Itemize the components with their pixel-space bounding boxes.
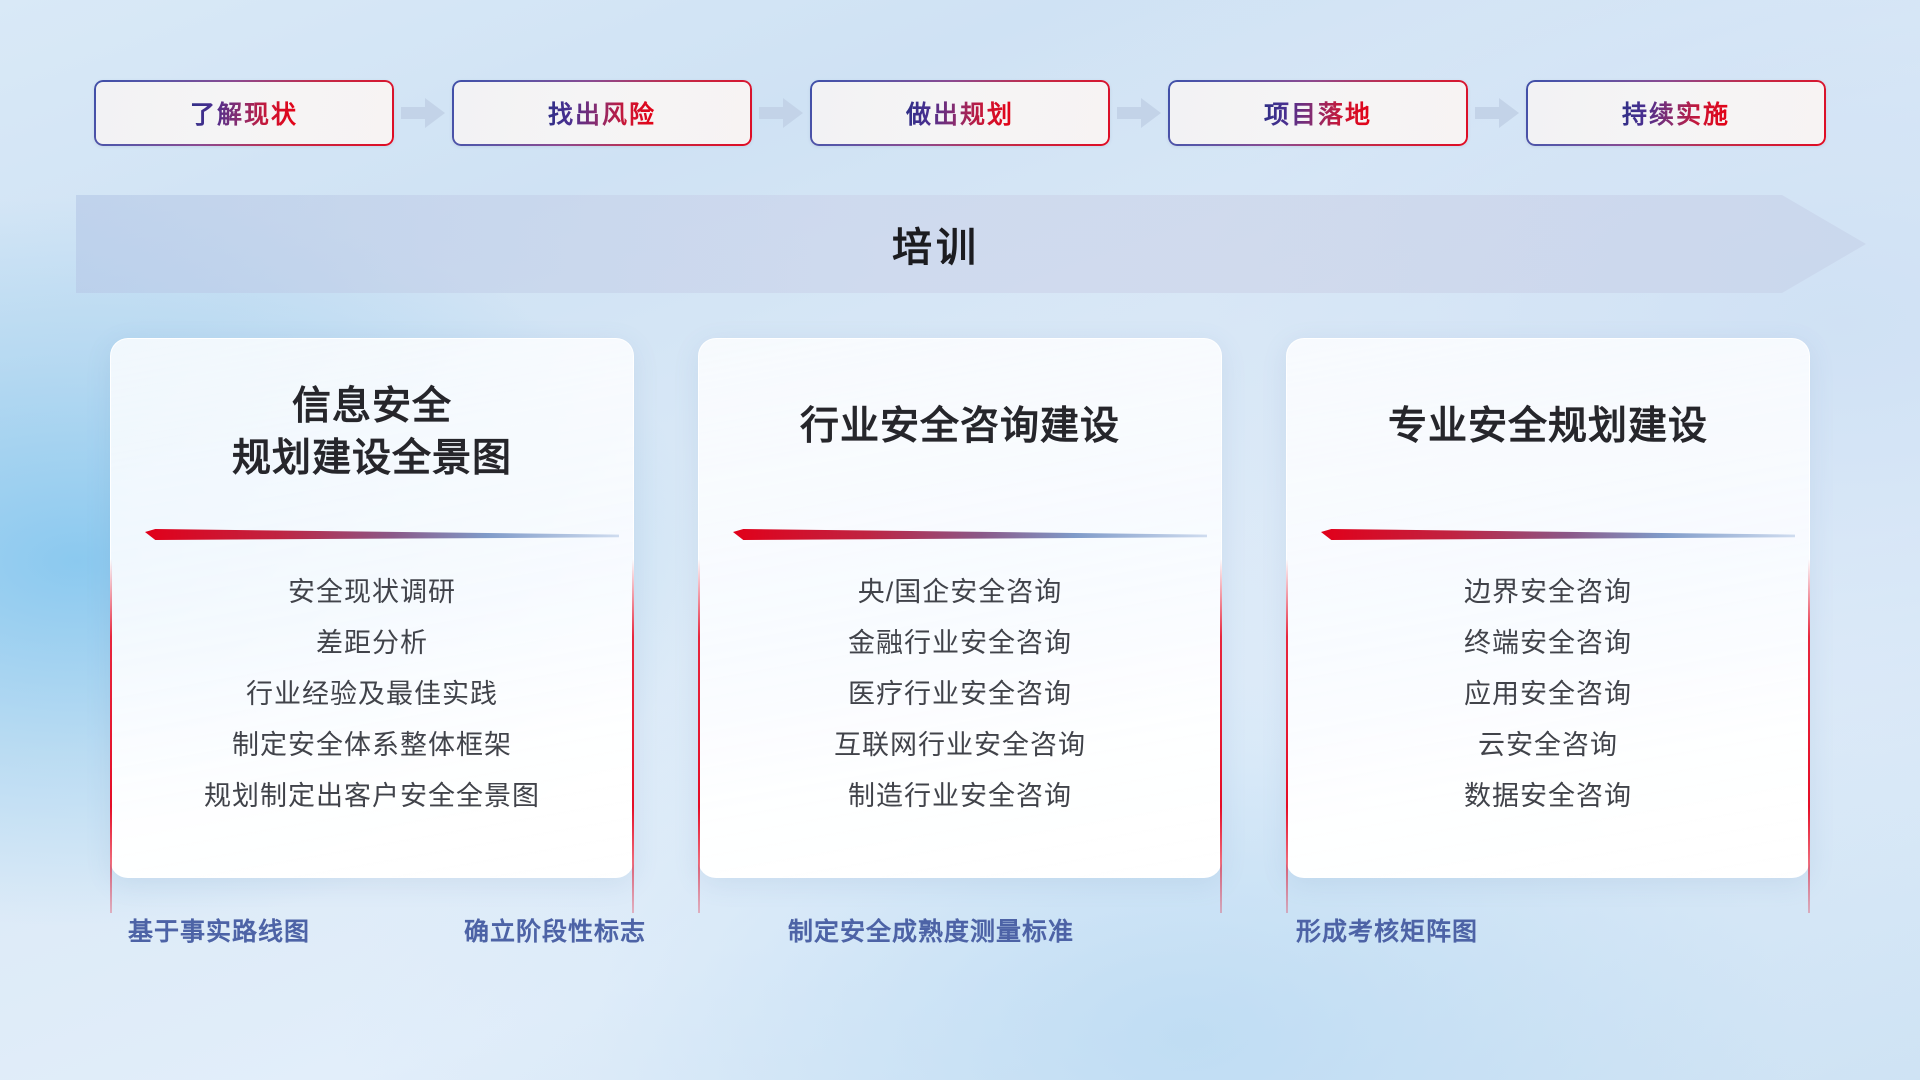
list-item: 云安全咨询 — [1287, 720, 1809, 771]
step-flow: 了解现状 找出风险 做出规划 项目落地 — [0, 78, 1920, 148]
card-information-security-blueprint[interactable]: 信息安全 规划建设全景图 安全现状调研 — [110, 338, 634, 878]
arrow-right-icon — [1468, 96, 1526, 130]
step-label: 持续实施 — [1622, 95, 1730, 131]
list-item: 行业经验及最佳实践 — [111, 669, 633, 720]
step-box-5[interactable]: 持续实施 — [1526, 80, 1826, 146]
step-label: 找出风险 — [548, 95, 656, 131]
footnote-label: 形成考核矩阵图 — [1296, 912, 1478, 948]
list-item: 终端安全咨询 — [1287, 618, 1809, 669]
card-row: 信息安全 规划建设全景图 安全现状调研 — [110, 338, 1810, 880]
card-industry-security-consulting[interactable]: 行业安全咨询建设 央/国企安全咨询 — [698, 338, 1222, 878]
card-title: 专业安全规划建设 — [1287, 401, 1809, 453]
step-box-2[interactable]: 找出风险 — [452, 80, 752, 146]
step-box-3[interactable]: 做出规划 — [810, 80, 1110, 146]
banner-label: 培训 — [76, 195, 1866, 293]
arrow-right-icon — [1110, 96, 1168, 130]
step-label: 项目落地 — [1264, 95, 1372, 131]
arrow-right-icon — [752, 96, 810, 130]
training-banner: 培训 — [76, 195, 1866, 293]
list-item: 互联网行业安全咨询 — [699, 720, 1221, 771]
list-item: 央/国企安全咨询 — [699, 567, 1221, 618]
list-item: 医疗行业安全咨询 — [699, 669, 1221, 720]
footnote-label: 制定安全成熟度测量标准 — [788, 912, 1074, 948]
card-item-list: 央/国企安全咨询 金融行业安全咨询 医疗行业安全咨询 互联网行业安全咨询 制造行… — [699, 567, 1221, 822]
slide-canvas: 了解现状 找出风险 做出规划 项目落地 — [0, 0, 1920, 1080]
arrow-right-icon — [394, 96, 452, 130]
card-divider — [1321, 529, 1795, 542]
list-item: 应用安全咨询 — [1287, 669, 1809, 720]
list-item: 规划制定出客户安全全景图 — [111, 771, 633, 822]
card-title: 行业安全咨询建设 — [699, 401, 1221, 453]
footnote-label: 确立阶段性标志 — [464, 912, 646, 948]
step-label: 做出规划 — [906, 95, 1014, 131]
list-item: 差距分析 — [111, 618, 633, 669]
step-box-4[interactable]: 项目落地 — [1168, 80, 1468, 146]
step-label: 了解现状 — [190, 95, 298, 131]
footnote-row: 基于事实路线图 确立阶段性标志 制定安全成熟度测量标准 形成考核矩阵图 — [0, 912, 1920, 952]
list-item: 制定安全体系整体框架 — [111, 720, 633, 771]
list-item: 数据安全咨询 — [1287, 771, 1809, 822]
step-box-1[interactable]: 了解现状 — [94, 80, 394, 146]
list-item: 安全现状调研 — [111, 567, 633, 618]
card-title: 信息安全 规划建设全景图 — [111, 381, 633, 485]
list-item: 制造行业安全咨询 — [699, 771, 1221, 822]
list-item: 金融行业安全咨询 — [699, 618, 1221, 669]
card-item-list: 安全现状调研 差距分析 行业经验及最佳实践 制定安全体系整体框架 规划制定出客户… — [111, 567, 633, 822]
card-divider — [145, 529, 619, 542]
card-divider — [733, 529, 1207, 542]
list-item: 边界安全咨询 — [1287, 567, 1809, 618]
card-professional-security-planning[interactable]: 专业安全规划建设 边界安全咨询 — [1286, 338, 1810, 878]
card-item-list: 边界安全咨询 终端安全咨询 应用安全咨询 云安全咨询 数据安全咨询 — [1287, 567, 1809, 822]
footnote-label: 基于事实路线图 — [128, 912, 310, 948]
